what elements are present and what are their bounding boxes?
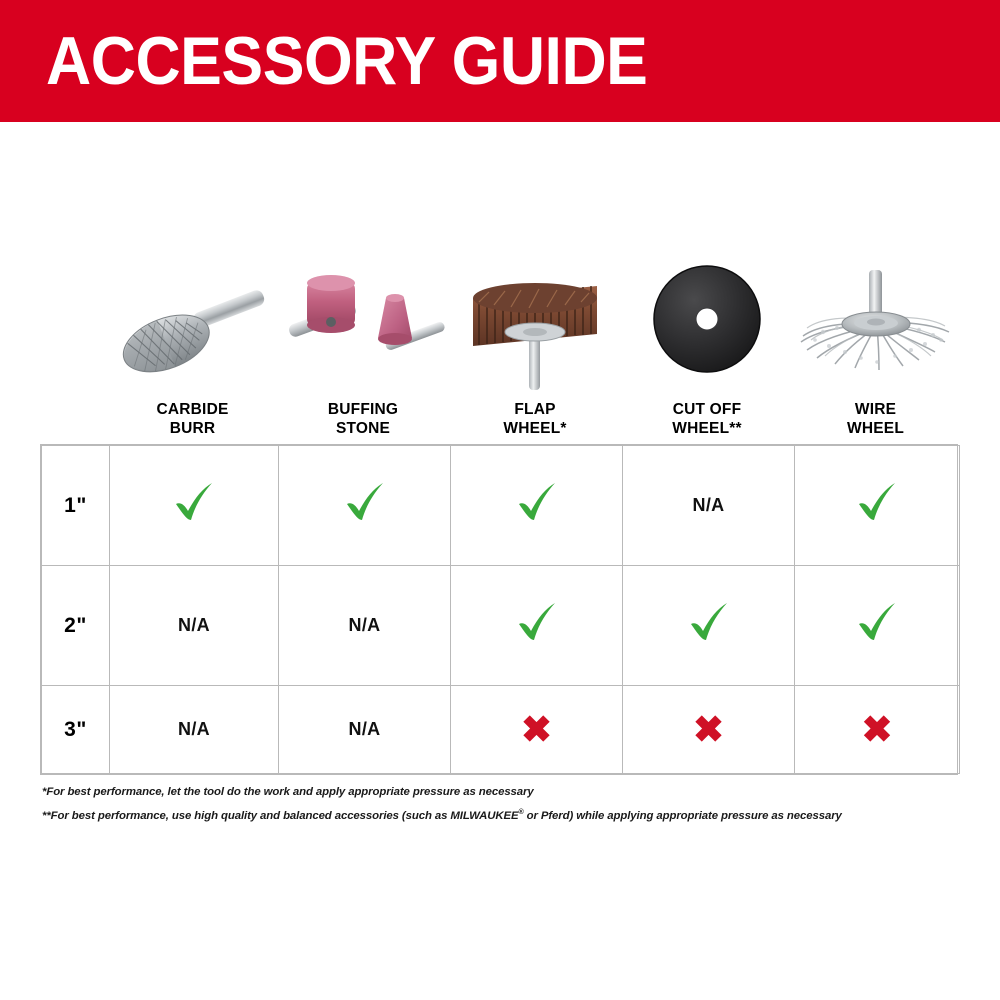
cell-3in-carbide-burr: N/A — [110, 686, 279, 774]
na-label: N/A — [349, 719, 381, 739]
column-header-cut-off-wheel: CUT OFF WHEEL** — [621, 400, 793, 438]
cell-2in-flap-wheel — [451, 566, 623, 686]
footnote-double-asterisk: **For best performance, use high quality… — [42, 803, 942, 826]
wire-wheel-image — [793, 262, 958, 397]
column-header-buffing-stone: BUFFING STONE — [277, 400, 449, 438]
footnote-two-part-a: **For best performance, use high quality… — [42, 809, 518, 821]
cross-icon: ✖ — [693, 711, 724, 748]
check-icon — [514, 600, 560, 646]
footnote-two-part-b: or Pferd) while applying appropriate pre… — [524, 809, 842, 821]
row-label-1in: 1" — [42, 446, 110, 566]
column-header-spacer — [40, 400, 108, 438]
column-header-flap-wheel: FLAP WHEEL* — [449, 400, 621, 438]
footnote-single-asterisk: *For best performance, let the tool do t… — [42, 783, 942, 803]
cell-3in-wire-wheel: ✖ — [795, 686, 960, 774]
check-icon — [171, 480, 217, 526]
compatibility-table: 1" N/A 2" N/A N/A 3" N/A — [40, 444, 958, 775]
column-header-line2: WHEEL — [793, 419, 958, 438]
row-label-3in: 3" — [42, 686, 110, 774]
column-header-line2: WHEEL** — [621, 419, 793, 438]
na-label: N/A — [178, 719, 210, 739]
cell-3in-buffing-stone: N/A — [279, 686, 451, 774]
column-header-line1: FLAP — [449, 400, 621, 419]
carbide-burr-icon — [108, 262, 277, 397]
buffing-stone-icon — [277, 262, 449, 397]
row-label-2in: 2" — [42, 566, 110, 686]
na-label: N/A — [349, 615, 381, 635]
accessory-guide-page: ACCESSORY GUIDE — [0, 0, 1000, 1000]
table-body: 1" N/A 2" N/A N/A 3" N/A — [42, 446, 960, 774]
cut-off-wheel-image — [621, 262, 793, 397]
cell-1in-cut-off-wheel: N/A — [623, 446, 795, 566]
column-header-carbide-burr: CARBIDE BURR — [108, 400, 277, 438]
cell-2in-buffing-stone: N/A — [279, 566, 451, 686]
cell-1in-flap-wheel — [451, 446, 623, 566]
cross-icon: ✖ — [521, 711, 552, 748]
column-header-line2: STONE — [277, 419, 449, 438]
column-header-line1: BUFFING — [277, 400, 449, 419]
column-header-line2: BURR — [108, 419, 277, 438]
cell-3in-cut-off-wheel: ✖ — [623, 686, 795, 774]
cut-off-wheel-icon — [621, 262, 793, 397]
cell-3in-flap-wheel: ✖ — [451, 686, 623, 774]
page-title: ACCESSORY GUIDE — [46, 27, 647, 95]
compatibility-matrix: 1" N/A 2" N/A N/A 3" N/A — [41, 445, 960, 774]
check-icon — [854, 600, 900, 646]
column-header-line1: CUT OFF — [621, 400, 793, 419]
cell-1in-wire-wheel — [795, 446, 960, 566]
footnotes: *For best performance, let the tool do t… — [42, 783, 942, 826]
header-banner: ACCESSORY GUIDE — [0, 0, 1000, 122]
flap-wheel-image — [449, 262, 621, 397]
na-label: N/A — [178, 615, 210, 635]
column-header-row: CARBIDE BURR BUFFING STONE FLAP WHEEL* C… — [40, 400, 958, 438]
table-row: 1" N/A — [42, 446, 960, 566]
column-header-line2: WHEEL* — [449, 419, 621, 438]
cell-2in-carbide-burr: N/A — [110, 566, 279, 686]
na-label: N/A — [693, 495, 725, 515]
column-header-line1: WIRE — [793, 400, 958, 419]
cell-1in-buffing-stone — [279, 446, 451, 566]
flap-wheel-icon — [449, 262, 621, 397]
wire-wheel-icon — [793, 262, 958, 397]
column-header-wire-wheel: WIRE WHEEL — [793, 400, 958, 438]
cross-icon: ✖ — [861, 711, 892, 748]
carbide-burr-image — [108, 262, 277, 397]
check-icon — [686, 600, 732, 646]
buffing-stone-image — [277, 262, 449, 397]
cell-2in-wire-wheel — [795, 566, 960, 686]
column-header-line1: CARBIDE — [108, 400, 277, 419]
check-icon — [854, 480, 900, 526]
table-row: 2" N/A N/A — [42, 566, 960, 686]
check-icon — [514, 480, 560, 526]
check-icon — [342, 480, 388, 526]
cell-2in-cut-off-wheel — [623, 566, 795, 686]
product-image-row — [40, 262, 958, 397]
cell-1in-carbide-burr — [110, 446, 279, 566]
table-row: 3" N/A N/A ✖ ✖ ✖ — [42, 686, 960, 774]
